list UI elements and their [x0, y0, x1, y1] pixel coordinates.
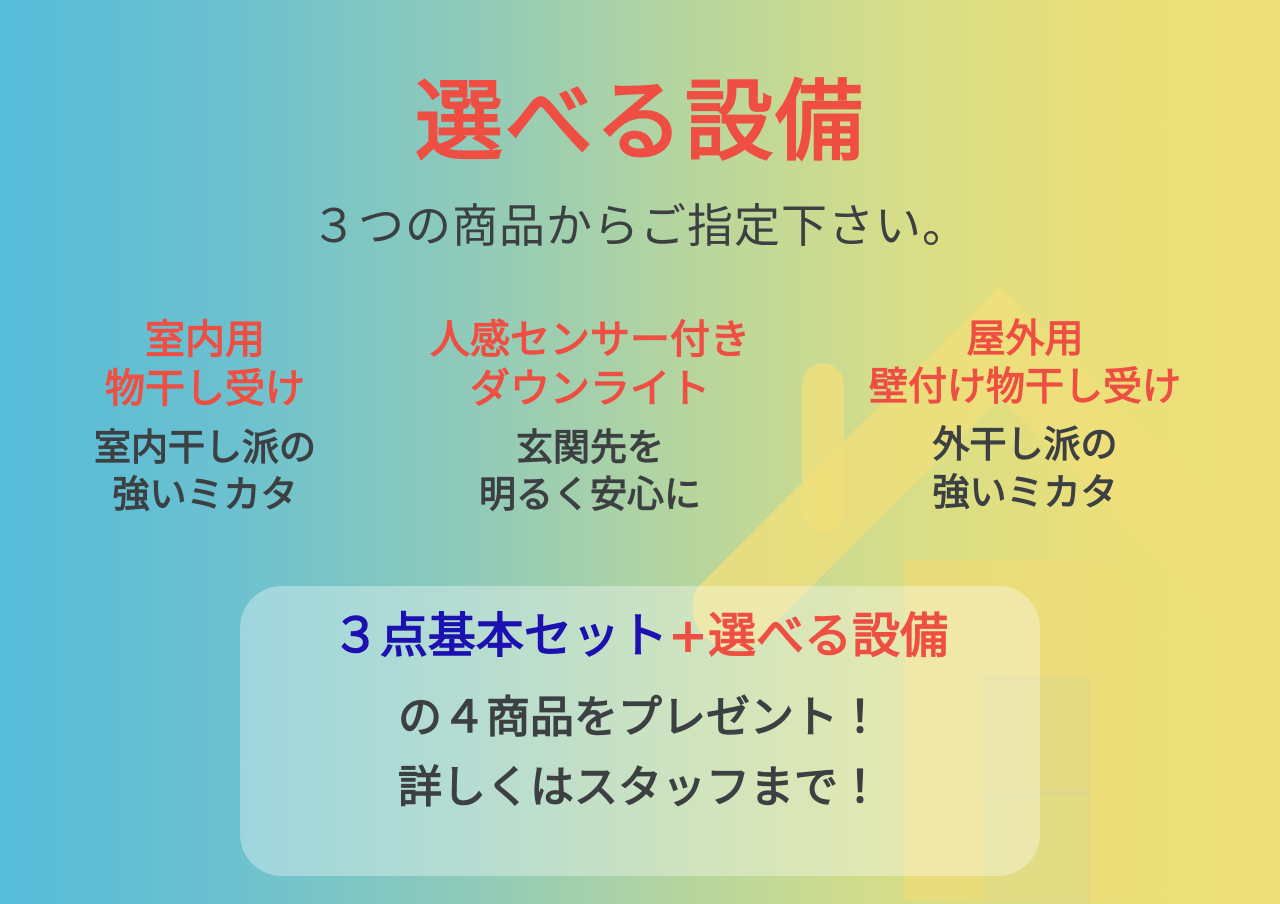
- option-item-outdoor: 屋外用 壁付け物干し受け 外干し派の 強いミカタ: [810, 316, 1240, 516]
- option-item-indoor: 室内用 物干し受け 室内干し派の 強いミカタ: [40, 316, 370, 518]
- option-title-line2: ダウンライト: [390, 365, 790, 414]
- option-desc-line1: 玄関先を: [390, 424, 790, 471]
- option-desc-line2: 強いミカタ: [810, 469, 1240, 516]
- option-item-downlight: 人感センサー付き ダウンライト 玄関先を 明るく安心に: [390, 316, 790, 518]
- option-title: 屋外用 壁付け物干し受け: [810, 316, 1240, 411]
- option-title-line1: 室内用: [40, 316, 370, 365]
- option-desc-line1: 室内干し派の: [40, 424, 370, 471]
- offer-headline-plus: +: [668, 608, 708, 664]
- offer-headline-base-set: ３点基本セット: [332, 608, 668, 664]
- option-title-line1: 人感センサー付き: [390, 316, 790, 365]
- offer-detail-line-2: 詳しくはスタッフまで！: [240, 766, 1040, 810]
- option-title-line2: 壁付け物干し受け: [810, 364, 1240, 412]
- page-title: 選べる設備: [0, 78, 1280, 166]
- option-description: 外干し派の 強いミカタ: [810, 421, 1240, 516]
- option-list: 室内用 物干し受け 室内干し派の 強いミカタ 人感センサー付き ダウンライト 玄…: [40, 316, 1240, 518]
- offer-headline-选-equipment: 選べる設備: [708, 608, 948, 664]
- option-desc-line2: 明るく安心に: [390, 471, 790, 518]
- option-title: 人感センサー付き ダウンライト: [390, 316, 790, 414]
- page-subtitle: ３つの商品からご指定下さい。: [0, 203, 1280, 249]
- option-desc-line1: 外干し派の: [810, 421, 1240, 468]
- option-desc-line2: 強いミカタ: [40, 471, 370, 518]
- offer-panel: ３点基本セット+選べる設備 の４商品をプレゼント！ 詳しくはスタッフまで！: [240, 586, 1040, 876]
- option-description: 室内干し派の 強いミカタ: [40, 424, 370, 519]
- option-title-line2: 物干し受け: [40, 365, 370, 414]
- offer-headline: ３点基本セット+選べる設備: [240, 612, 1040, 660]
- option-title-line1: 屋外用: [810, 316, 1240, 364]
- option-description: 玄関先を 明るく安心に: [390, 424, 790, 519]
- offer-detail-line-1: の４商品をプレゼント！: [240, 696, 1040, 740]
- poster-canvas: 選べる設備 ３つの商品からご指定下さい。 室内用 物干し受け 室内干し派の 強い…: [0, 0, 1280, 904]
- option-title: 室内用 物干し受け: [40, 316, 370, 414]
